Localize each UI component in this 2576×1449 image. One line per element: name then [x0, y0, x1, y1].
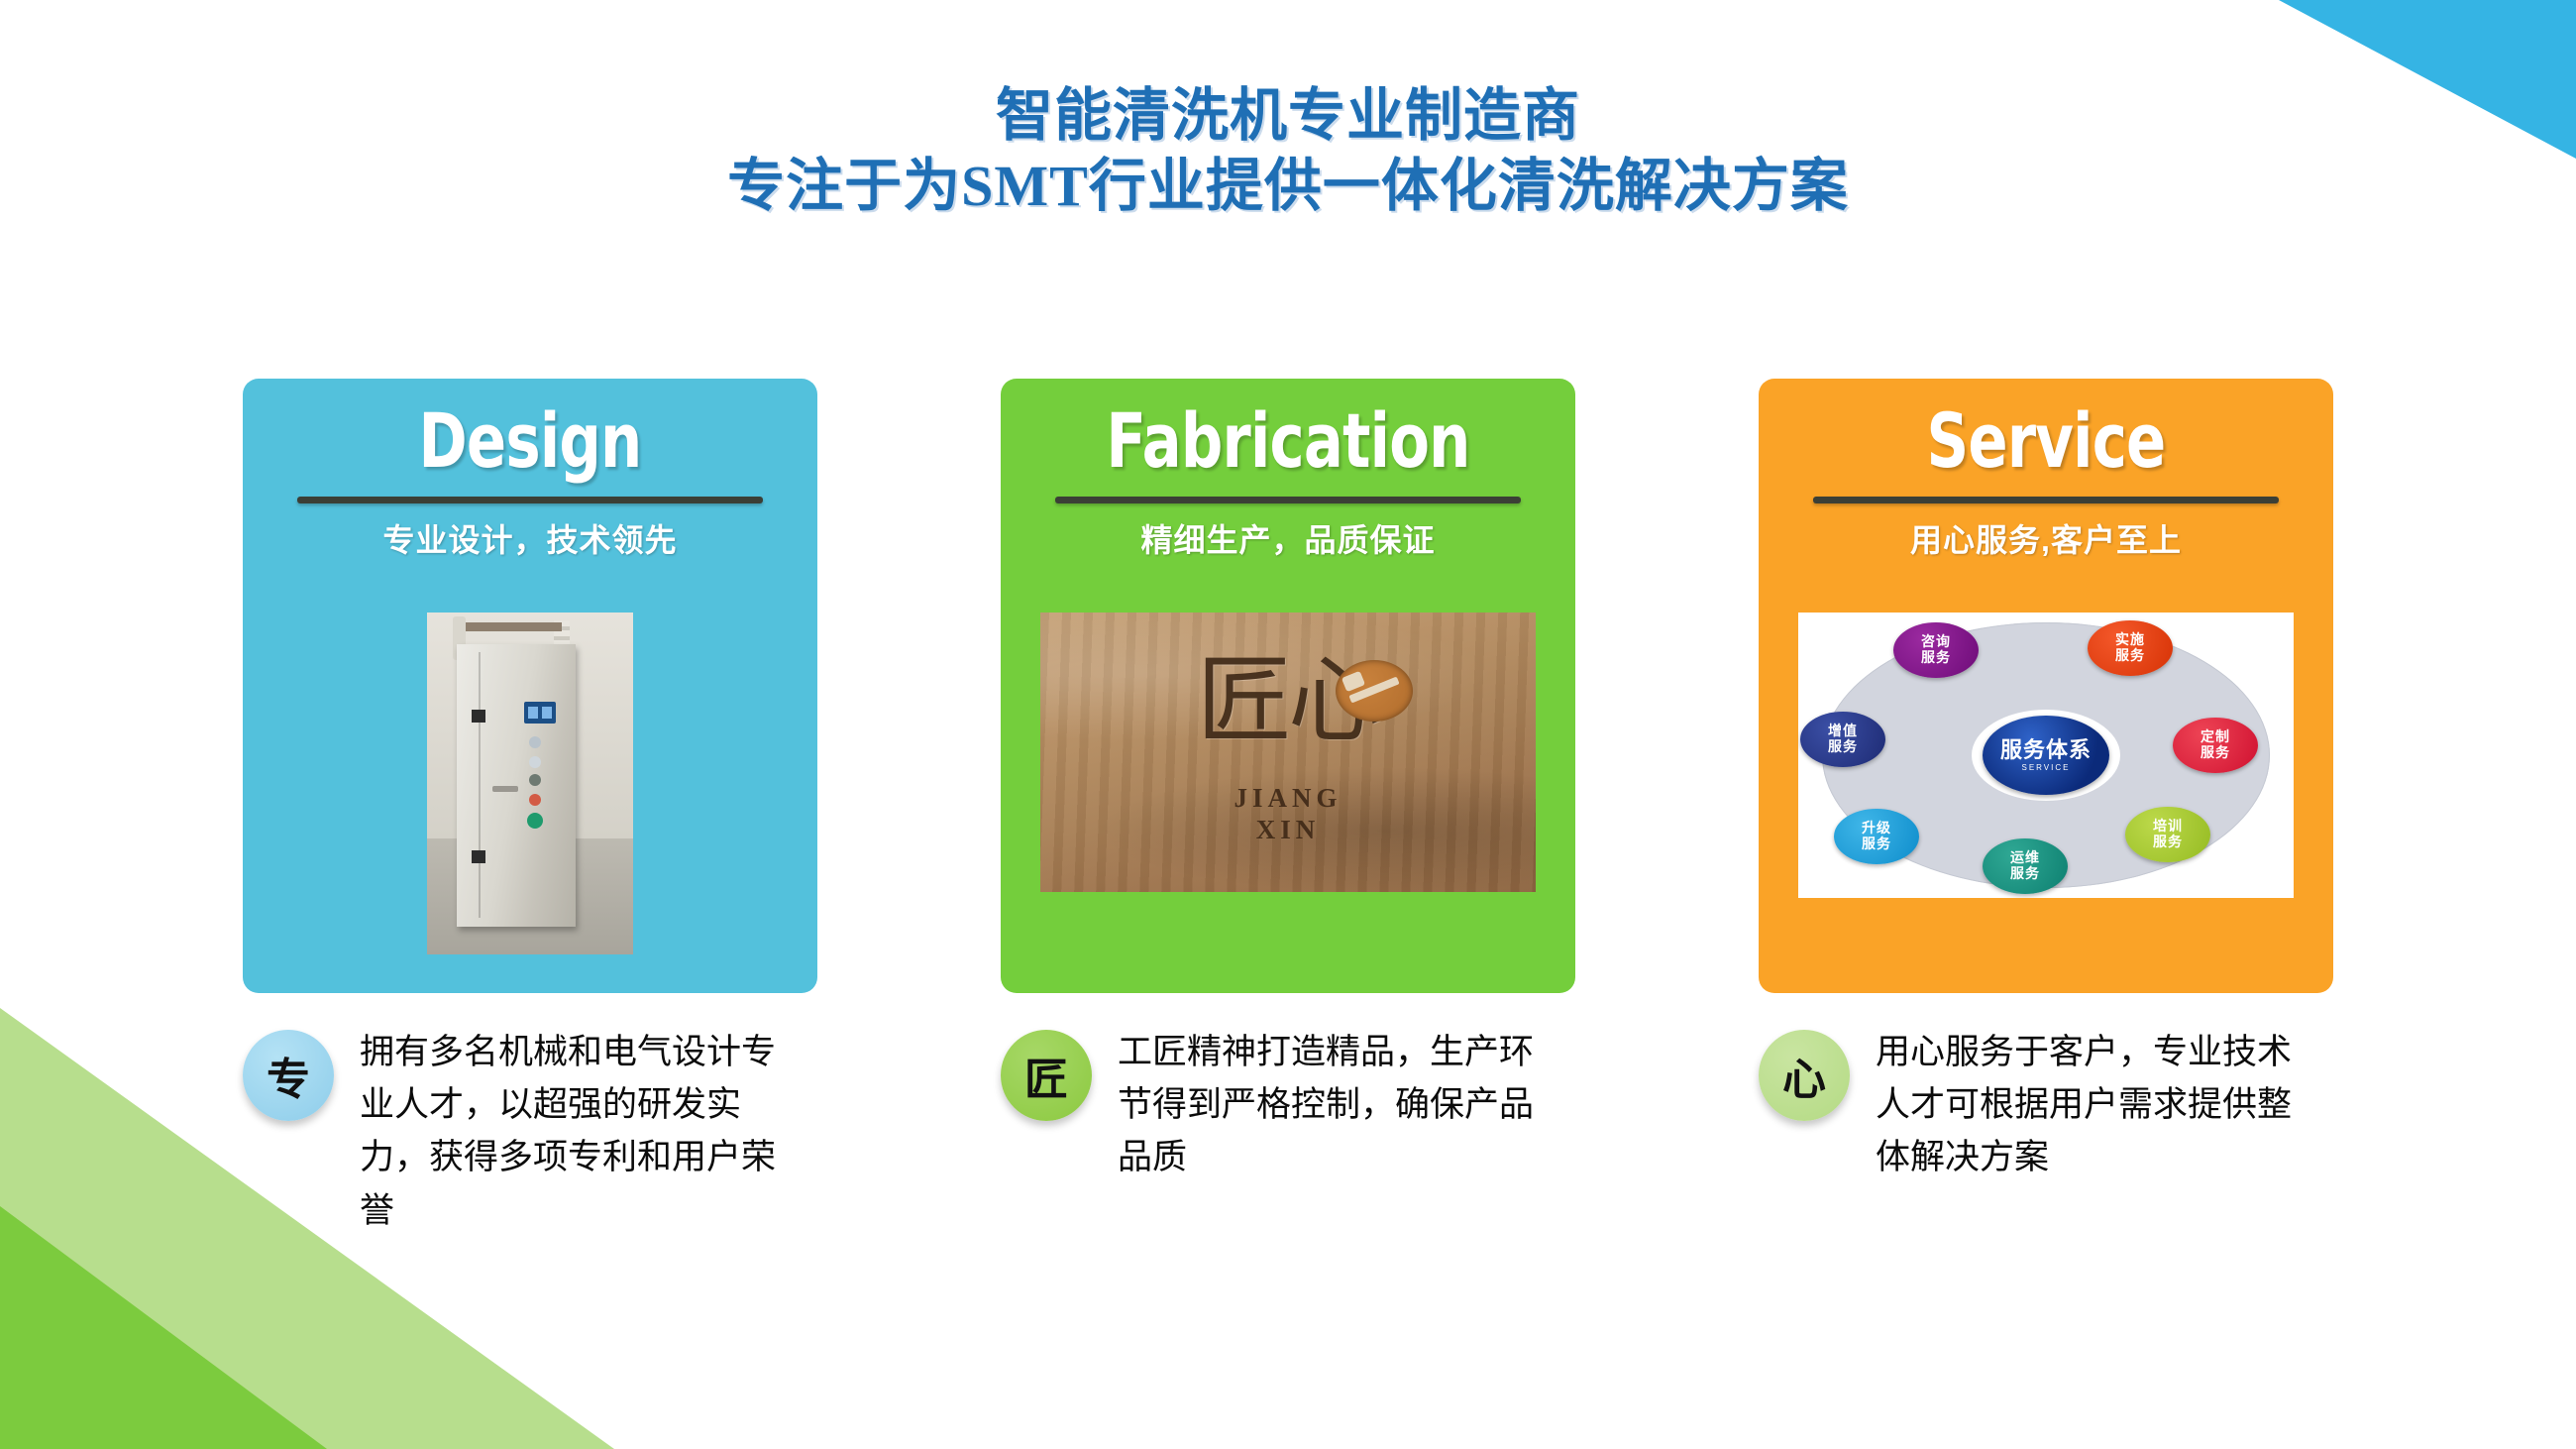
photo-hmi-key-left	[528, 707, 538, 719]
slide-headline: 智能清洗机专业制造商 专注于为SMT行业提供一体化清洗解决方案	[0, 81, 2576, 222]
photo-latch-upper	[472, 710, 485, 723]
cleaning-machine-photo	[427, 613, 633, 954]
wheel-node-line-1: 增值	[1828, 724, 1858, 739]
card-title-fabrication: Fabrication	[1064, 403, 1512, 479]
wheel-node-line-2: 服务	[1862, 836, 1891, 852]
photo-latch-lower	[472, 850, 485, 863]
card-divider	[1813, 497, 2279, 503]
photo-control-knob-1	[529, 736, 541, 748]
plaque-pinyin: JIANG XIN	[1040, 783, 1536, 846]
wheel-node-line-1: 升级	[1862, 821, 1891, 836]
card-divider	[297, 497, 763, 503]
card-title-design: Design	[306, 403, 754, 479]
photo-hmi-screen	[524, 702, 556, 724]
wheel-node-customization: 定制 服务	[2173, 718, 2258, 773]
plaque-pinyin-line-1: JIANG	[1040, 783, 1536, 815]
feature-item-design: 专 拥有多名机械和电气设计专业人才，以超强的研发实力，获得多项专利和用户荣誉	[243, 1026, 817, 1283]
slide-canvas: 智能清洗机专业制造商 专注于为SMT行业提供一体化清洗解决方案 Design 专…	[0, 0, 2576, 1449]
feature-badge-zhuan: 专	[243, 1030, 334, 1121]
service-system-wheel: 服务体系 SERVICE 咨询 服务 实施 服务 定制 服务	[1798, 613, 2294, 898]
plaque-chinese-text: 匠心	[1040, 656, 1536, 746]
wheel-node-line-2: 服务	[2010, 866, 2040, 882]
wheel-node-line-1: 定制	[2200, 729, 2230, 745]
pillar-card-fabrication[interactable]: Fabrication 精细生产，品质保证 匠心 JIANG XIN	[1001, 379, 1575, 993]
wheel-node-line-2: 服务	[2153, 835, 2183, 850]
feature-item-fabrication: 匠 工匠精神打造精品，生产环节得到严格控制，确保产品品质	[1001, 1026, 1575, 1283]
wheel-node-training: 培训 服务	[2125, 807, 2210, 862]
feature-item-service: 心 用心服务于客户，专业技术人才可根据用户需求提供整体解决方案	[1759, 1026, 2333, 1283]
wheel-hub-en: SERVICE	[2022, 764, 2071, 772]
photo-door-handle	[492, 786, 518, 792]
photo-control-knob-3	[529, 774, 541, 786]
wheel-node-maintenance: 运维 服务	[1983, 838, 2068, 894]
wheel-node-line-2: 服务	[1921, 650, 1951, 666]
hammer-icon	[1336, 660, 1413, 722]
photo-hmi-key-right	[542, 707, 552, 719]
wheel-node-line-2: 服务	[2200, 745, 2230, 761]
wheel-node-consulting: 咨询 服务	[1893, 622, 1979, 678]
pillar-card-design[interactable]: Design 专业设计，技术领先	[243, 379, 817, 993]
photo-start-button	[527, 813, 543, 829]
jiangxin-wood-plaque: 匠心 JIANG XIN	[1040, 613, 1536, 892]
card-subtitle-service: 用心服务,客户至上	[1759, 515, 2333, 561]
photo-control-knob-2	[529, 756, 541, 768]
headline-line-1: 智能清洗机专业制造商	[996, 83, 1580, 148]
photo-door-seam	[479, 652, 481, 918]
feature-badge-xin: 心	[1759, 1030, 1850, 1121]
pillar-cards-row: Design 专业设计，技术领先	[0, 379, 2576, 1003]
wheel-node-line-1: 实施	[2115, 632, 2145, 648]
card-title-service: Service	[1822, 403, 2270, 479]
feature-descriptions-row: 专 拥有多名机械和电气设计专业人才，以超强的研发实力，获得多项专利和用户荣誉 匠…	[0, 1026, 2576, 1283]
wheel-node-upgrade: 升级 服务	[1834, 809, 1919, 864]
wheel-node-line-2: 服务	[1828, 739, 1858, 755]
wheel-hub-cn: 服务体系	[2000, 739, 2092, 761]
card-media-design	[243, 605, 817, 993]
hammer-head	[1342, 671, 1365, 692]
plaque-pinyin-line-2: XIN	[1040, 815, 1536, 846]
wheel-node-line-1: 咨询	[1921, 634, 1951, 650]
wheel-node-line-1: 运维	[2010, 850, 2040, 866]
feature-text-service: 用心服务于客户，专业技术人才可根据用户需求提供整体解决方案	[1876, 1026, 2292, 1184]
wheel-node-line-2: 服务	[2115, 648, 2145, 664]
wheel-hub: 服务体系 SERVICE	[1983, 716, 2109, 795]
photo-stop-button	[529, 794, 541, 806]
wheel-node-value-added: 增值 服务	[1800, 712, 1885, 767]
feature-badge-jiang: 匠	[1001, 1030, 1092, 1121]
wheel-node-line-1: 培训	[2153, 819, 2183, 835]
card-media-service: 服务体系 SERVICE 咨询 服务 实施 服务 定制 服务	[1759, 605, 2333, 993]
plaque-chinese-mark: 匠心	[1040, 656, 1536, 746]
feature-text-fabrication: 工匠精神打造精品，生产环节得到严格控制，确保产品品质	[1118, 1026, 1534, 1184]
card-media-fabrication: 匠心 JIANG XIN	[1001, 605, 1575, 993]
wheel-node-implementation: 实施 服务	[2088, 620, 2173, 676]
headline-line-2: 专注于为SMT行业提供一体化清洗解决方案	[0, 152, 2576, 222]
feature-text-design: 拥有多名机械和电气设计专业人才，以超强的研发实力，获得多项专利和用户荣誉	[360, 1026, 776, 1237]
card-divider	[1055, 497, 1521, 503]
pillar-card-service[interactable]: Service 用心服务,客户至上 服务体系 SERVICE 咨询 服务	[1759, 379, 2333, 993]
card-subtitle-fabrication: 精细生产，品质保证	[1001, 515, 1575, 561]
card-subtitle-design: 专业设计，技术领先	[243, 515, 817, 561]
photo-ceiling-pipe	[453, 622, 562, 631]
